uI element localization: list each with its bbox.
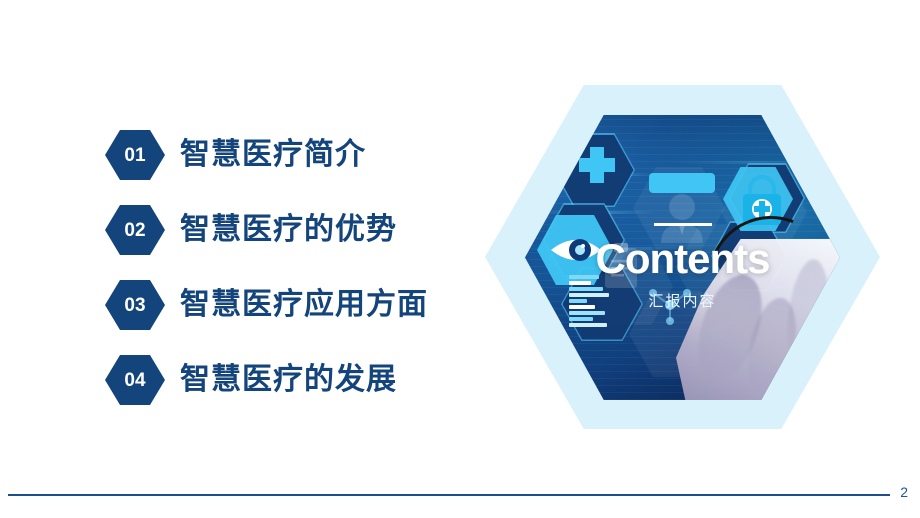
artwork-caption: Contents 汇报内容 bbox=[525, 223, 840, 311]
footer-divider bbox=[8, 494, 890, 496]
artwork-subtitle: 汇报内容 bbox=[525, 290, 840, 311]
agenda-number: 01 bbox=[124, 146, 145, 165]
hexagon-artwork: Contents 汇报内容 bbox=[485, 85, 880, 429]
agenda-label: 智慧医疗简介 bbox=[180, 133, 366, 177]
mini-data-row bbox=[569, 317, 593, 321]
hexagon-number-badge: 02 bbox=[105, 205, 165, 255]
artwork-title: Contents bbox=[525, 236, 840, 282]
hexagon-number-badge: 01 bbox=[105, 130, 165, 180]
hexagon-number-badge: 03 bbox=[105, 280, 165, 330]
agenda-label: 智慧医疗应用方面 bbox=[180, 283, 428, 327]
slide-canvas: 01 智慧医疗简介 02 智慧医疗的优势 03 智慧医疗应用方面 04 智慧医疗… bbox=[0, 0, 920, 518]
mini-data-row bbox=[569, 323, 607, 327]
agenda-number: 04 bbox=[124, 371, 145, 390]
hexagon-number-badge: 04 bbox=[105, 355, 165, 405]
caption-divider bbox=[654, 223, 712, 226]
page-number: 2 bbox=[900, 484, 908, 500]
agenda-label: 智慧医疗的发展 bbox=[180, 358, 397, 402]
agenda-number: 03 bbox=[124, 296, 145, 315]
agenda-label: 智慧医疗的优势 bbox=[180, 208, 397, 252]
mini-data-row bbox=[569, 311, 605, 315]
agenda-number: 02 bbox=[124, 221, 145, 240]
